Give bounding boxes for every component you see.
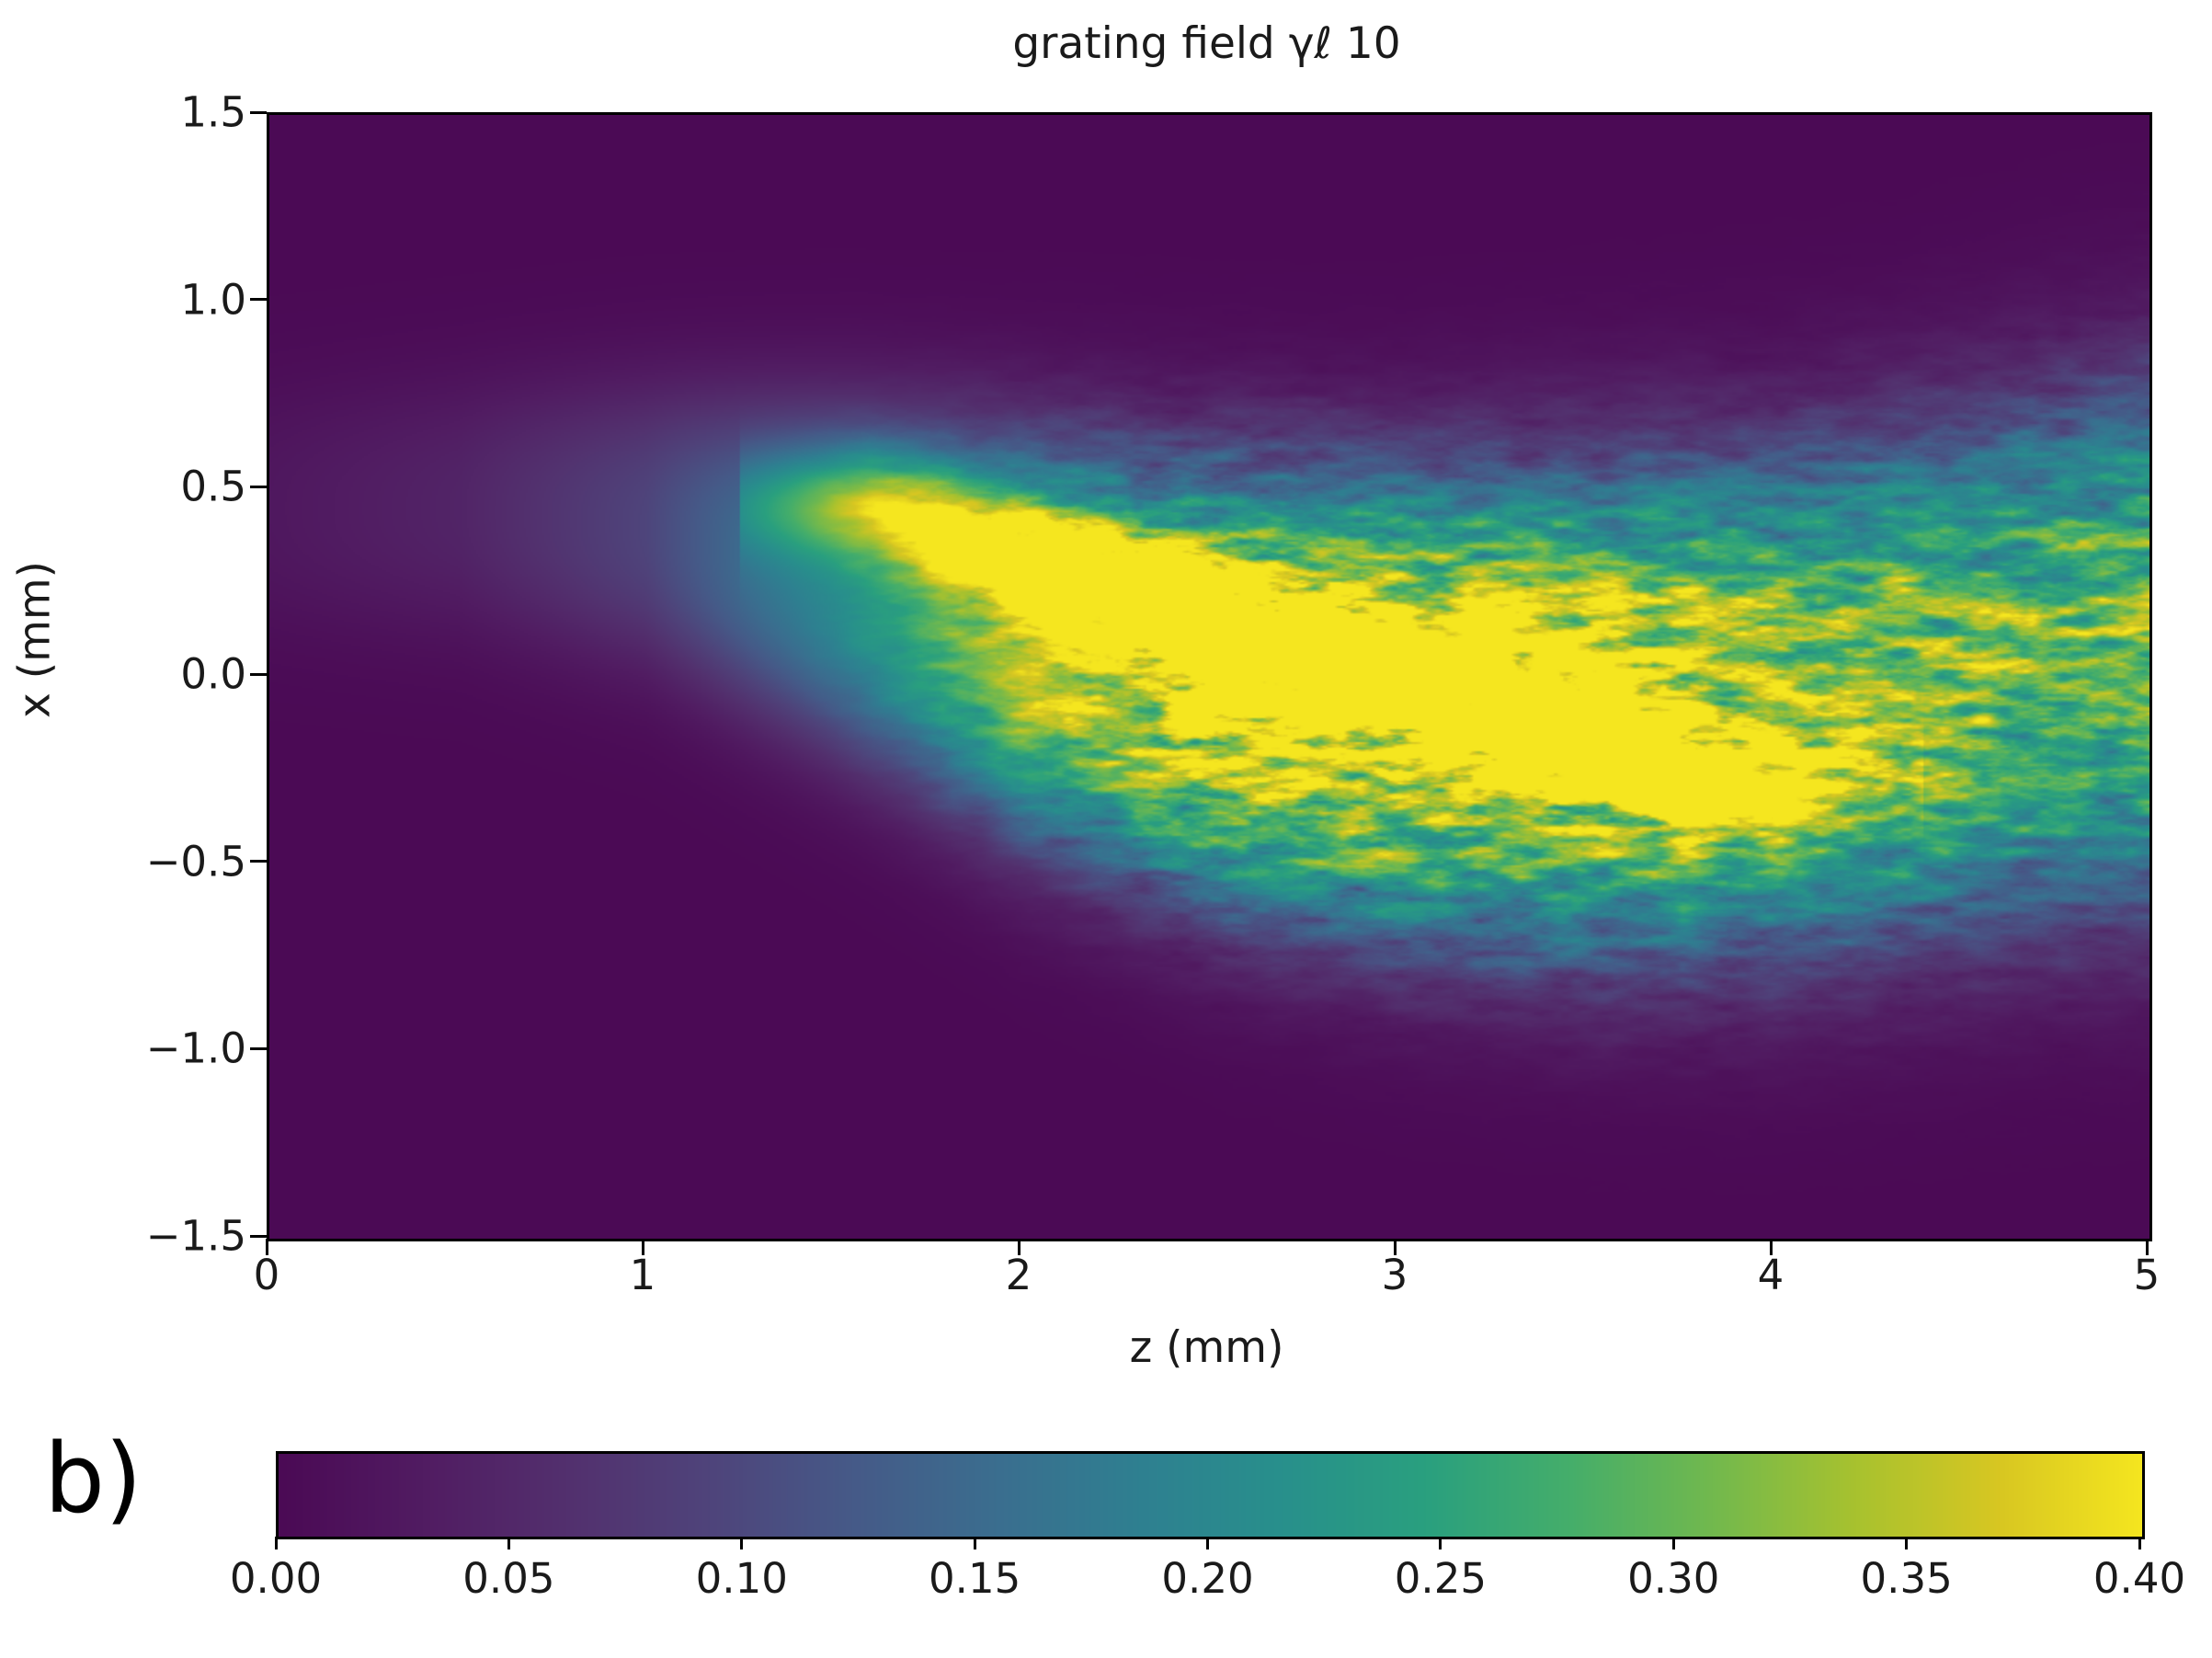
y-tick-label: 1.0 bbox=[0, 275, 246, 324]
colorbar-tick-mark bbox=[2138, 1537, 2141, 1549]
colorbar-tick-mark bbox=[1672, 1537, 1675, 1549]
y-axis-label: x (mm) bbox=[10, 364, 61, 916]
colorbar-tick-mark bbox=[740, 1537, 743, 1549]
x-tick-label: 3 bbox=[1321, 1251, 1468, 1299]
colorbar-tick-mark bbox=[1439, 1537, 1442, 1549]
colorbar-tick-label: 0.10 bbox=[641, 1554, 843, 1603]
colorbar-tick-mark bbox=[974, 1537, 976, 1549]
heatmap-axes bbox=[267, 112, 2152, 1241]
colorbar-tick-mark bbox=[507, 1537, 510, 1549]
x-tick-label: 2 bbox=[945, 1251, 1092, 1299]
colorbar-tick-label: 0.40 bbox=[2038, 1554, 2212, 1603]
page-title: grating field γℓ 10 bbox=[267, 20, 2147, 68]
colorbar-tick-label: 0.00 bbox=[175, 1554, 377, 1603]
y-tick-mark bbox=[250, 298, 267, 301]
x-tick-label: 5 bbox=[2073, 1251, 2212, 1299]
colorbar-tick-label: 0.30 bbox=[1572, 1554, 1774, 1603]
y-tick-mark bbox=[250, 860, 267, 863]
colorbar bbox=[276, 1451, 2145, 1539]
colorbar-tick-label: 0.35 bbox=[1806, 1554, 2008, 1603]
x-tick-label: 4 bbox=[1697, 1251, 1844, 1299]
y-tick-label: 1.5 bbox=[0, 88, 246, 137]
y-tick-label: −1.0 bbox=[0, 1024, 246, 1073]
colorbar-tick-mark bbox=[1206, 1537, 1209, 1549]
colorbar-tick-label: 0.20 bbox=[1107, 1554, 1309, 1603]
y-tick-mark bbox=[250, 486, 267, 488]
colorbar-gradient bbox=[279, 1454, 2142, 1537]
figure-root: grating field γℓ 10 −1.5−1.0−0.50.00.51.… bbox=[0, 0, 2212, 1658]
x-tick-label: 0 bbox=[193, 1251, 340, 1299]
x-axis-label: z (mm) bbox=[267, 1322, 2147, 1373]
y-tick-mark bbox=[250, 1235, 267, 1238]
y-tick-mark bbox=[250, 673, 267, 676]
colorbar-tick-mark bbox=[275, 1537, 278, 1549]
colorbar-tick-label: 0.15 bbox=[873, 1554, 1076, 1603]
colorbar-tick-label: 0.25 bbox=[1340, 1554, 1542, 1603]
y-tick-mark bbox=[250, 1047, 267, 1050]
heatmap-image bbox=[269, 115, 2149, 1239]
x-tick-label: 1 bbox=[569, 1251, 716, 1299]
colorbar-tick-label: 0.05 bbox=[407, 1554, 610, 1603]
colorbar-tick-mark bbox=[1905, 1537, 1908, 1549]
panel-label: b) bbox=[44, 1431, 143, 1527]
y-tick-mark bbox=[250, 111, 267, 114]
